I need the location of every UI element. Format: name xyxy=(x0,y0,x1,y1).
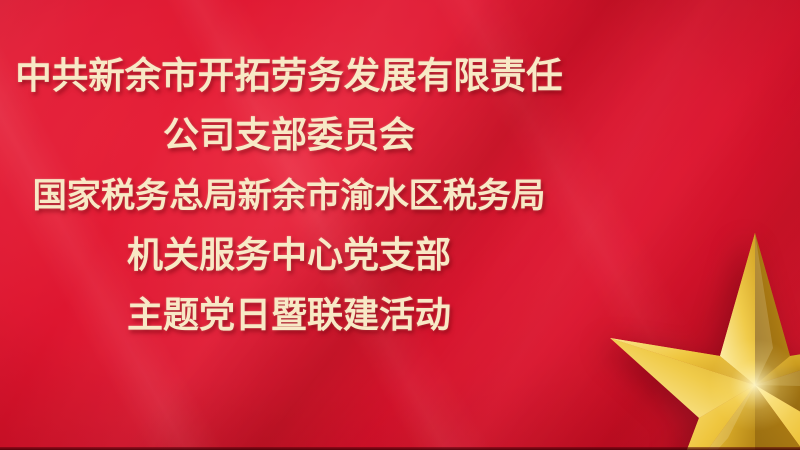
headline-line-4: 机关服务中心党支部 xyxy=(0,226,578,286)
headline-block: 中共新余市开拓劳务发展有限责任 公司支部委员会 国家税务总局新余市渝水区税务局 … xyxy=(0,46,578,346)
headline-line-5: 主题党日暨联建活动 xyxy=(0,286,578,346)
headline-line-3: 国家税务总局新余市渝水区税务局 xyxy=(0,166,578,226)
poster-canvas: 中共新余市开拓劳务发展有限责任 公司支部委员会 国家税务总局新余市渝水区税务局 … xyxy=(0,0,800,450)
headline-line-1: 中共新余市开拓劳务发展有限责任 xyxy=(0,46,578,106)
headline-line-2: 公司支部委员会 xyxy=(0,106,578,166)
